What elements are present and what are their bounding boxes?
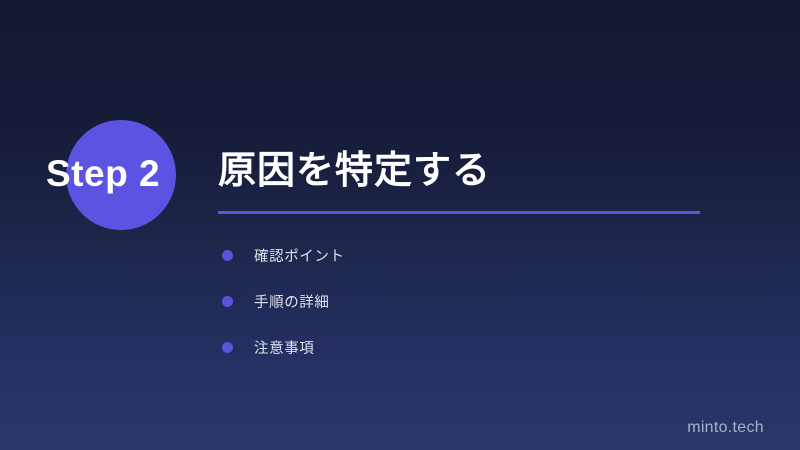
presentation-slide: Step 2 原因を特定する 確認ポイント 手順の詳細 注意事項 minto.t…	[0, 0, 800, 450]
slide-title: 原因を特定する	[218, 146, 718, 196]
list-item-label: 注意事項	[254, 337, 314, 358]
step-badge-label: Step 2	[46, 152, 216, 196]
bullet-dot-icon	[222, 342, 233, 353]
list-item: 確認ポイント	[218, 232, 688, 278]
bullet-dot-icon	[222, 250, 233, 261]
bullet-dot-icon	[222, 296, 233, 307]
list-item: 手順の詳細	[218, 278, 688, 324]
list-item: 注意事項	[218, 324, 688, 370]
list-item-label: 手順の詳細	[254, 291, 330, 312]
bullet-list: 確認ポイント 手順の詳細 注意事項	[218, 232, 688, 370]
title-divider	[218, 211, 700, 214]
list-item-label: 確認ポイント	[254, 245, 345, 266]
watermark-brand: minto.tech	[687, 419, 764, 437]
